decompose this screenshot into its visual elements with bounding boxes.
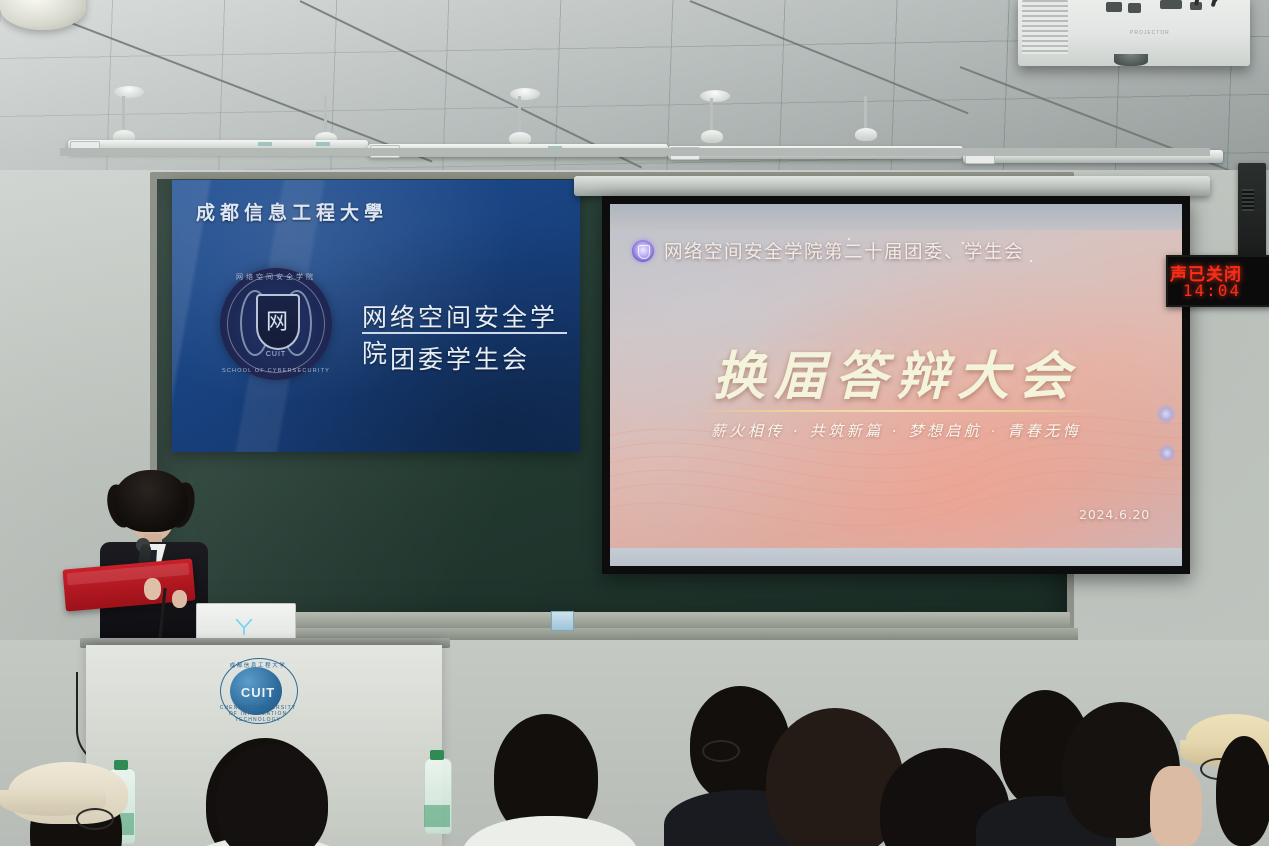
crest-top-text: 网络空间安全学院	[220, 272, 332, 282]
audience-shoulders-4	[462, 816, 638, 846]
led-clock-text: 14:04	[1168, 281, 1256, 300]
crest-center-glyph: 网	[266, 304, 288, 336]
department-banner: 成都信息工程大學 网络空间安全学院 网 CUIT SCHOOL OF CYBER…	[172, 180, 580, 452]
slide-date: 2024.6.20	[1079, 507, 1150, 522]
banner-divider	[362, 332, 567, 334]
speaker-grille	[1242, 189, 1254, 211]
presenter-hand-left	[144, 578, 161, 600]
lamp-drop-cap-4	[701, 130, 723, 143]
slide-header-text: 网络空间安全学院第二十届团委、学生会	[664, 238, 1024, 264]
banner-university-name: 成都信息工程大學	[196, 198, 388, 225]
projector-port-hdmi	[1106, 2, 1122, 12]
projection-screen-case	[574, 176, 1210, 196]
bottle-cap-2	[430, 750, 444, 760]
slide-sparkle	[1030, 260, 1032, 262]
smoke-detector-3	[700, 90, 730, 102]
wall-rail	[60, 148, 1210, 156]
projector-vent	[1022, 0, 1068, 54]
bottle-cap-1	[114, 760, 128, 770]
crest-abbrev: CUIT	[220, 351, 332, 358]
projection-screen: 网络空间安全学院第二十届团委、学生会 换届答辩大会 薪火相传 · 共筑新篇 · …	[602, 196, 1190, 574]
presenter-hand-right	[172, 590, 187, 608]
audience-glasses-2	[702, 740, 740, 762]
crest-bottom-text: SCHOOL OF CYBERSECURITY	[220, 368, 332, 374]
wall-speaker	[1238, 163, 1266, 261]
projector-lens	[1114, 54, 1148, 66]
water-bottle-2	[424, 758, 452, 834]
slide-bottom-band	[610, 548, 1182, 566]
laptop-logo-icon	[233, 616, 255, 638]
lamp-drop-cap-5	[855, 128, 877, 141]
projector-brand-label: PROJECTOR	[1130, 30, 1170, 36]
smoke-detector-2	[510, 88, 540, 100]
audience-head-10	[1216, 736, 1269, 846]
slide-wave-graphic	[610, 371, 1182, 566]
screen-light-reflection-1	[1156, 404, 1176, 424]
presenter-hair	[114, 470, 188, 532]
projector-cable-3	[1211, 0, 1224, 7]
projector-port-lan	[1128, 3, 1141, 13]
bottle-label	[424, 805, 450, 827]
classroom-photo-scene: PROJECTOR 成都信息工程大學 网络空间安全学院 网 CUIT SCHOO…	[0, 0, 1269, 846]
folder-paper	[67, 563, 190, 586]
fixture-tick	[258, 142, 272, 146]
slide-top-band	[610, 204, 1182, 230]
ceiling-projector: PROJECTOR	[1018, 0, 1250, 66]
cybersecurity-crest-icon: 网络空间安全学院 网 CUIT SCHOOL OF CYBERSECURITY	[220, 268, 332, 380]
smoke-detector-1	[114, 86, 144, 98]
screen-light-reflection-2	[1158, 444, 1176, 462]
equipment-label-sticker	[551, 611, 574, 631]
projector-port-vga	[1160, 0, 1182, 9]
fixture-tick	[316, 142, 330, 146]
audience-head-3	[216, 744, 328, 846]
slide-header: 网络空间安全学院第二十届团委、学生会	[632, 238, 1024, 264]
audience-glasses-1	[76, 808, 114, 830]
presentation-slide: 网络空间安全学院第二十届团委、学生会 换届答辩大会 薪火相传 · 共筑新篇 · …	[610, 204, 1182, 566]
banner-line-2: 团委学生会	[390, 340, 530, 376]
audience-foreground: 主持人	[0, 640, 1269, 846]
audience-hand-foreground	[1150, 766, 1202, 846]
slide-emblem-icon	[632, 240, 654, 262]
led-status-display: 声已关闭 14:04	[1166, 255, 1269, 307]
